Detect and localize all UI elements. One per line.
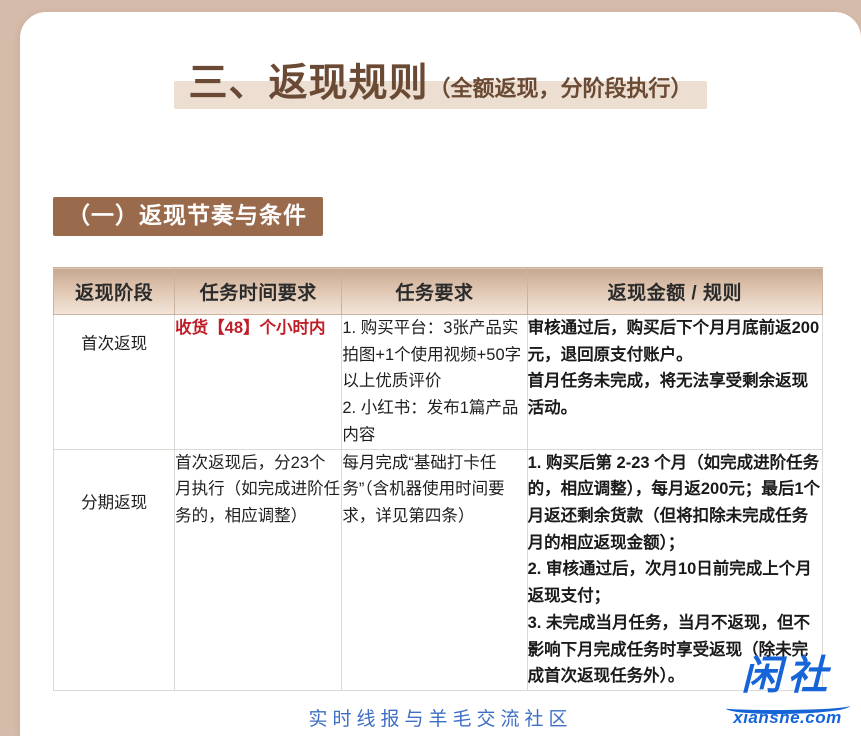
- site-logo: 闲社 xianshe.com: [710, 656, 861, 728]
- content-card: 三、返现规则（全额返现，分阶段执行） （一）返现节奏与条件 返现阶段 任务时间要…: [20, 12, 861, 736]
- rebate-rules-table: 返现阶段 任务时间要求 任务要求 返现金额 / 规则 首次返现 收货【48】个小…: [53, 267, 823, 691]
- column-header-time: 任务时间要求: [175, 268, 342, 315]
- logo-url: xianshe.com: [710, 708, 861, 728]
- cell-stage: 首次返现: [54, 315, 175, 450]
- title-main: 三、返现规则: [188, 62, 428, 105]
- logo-mark: 闲社: [710, 656, 861, 696]
- cell-stage: 分期返现: [54, 449, 175, 690]
- table-header-row: 返现阶段 任务时间要求 任务要求 返现金额 / 规则: [54, 268, 823, 315]
- page-root: 三、返现规则（全额返现，分阶段执行） （一）返现节奏与条件 返现阶段 任务时间要…: [0, 0, 861, 736]
- cell-amount: 审核通过后，购买后下个月月底前返200元，退回原支付账户。首月任务未完成，将无法…: [527, 315, 822, 450]
- cell-time: 首次返现后，分23个月执行（如完成进阶任务的，相应调整）: [175, 449, 342, 690]
- column-header-amount: 返现金额 / 规则: [527, 268, 822, 315]
- section-badge: （一）返现节奏与条件: [53, 197, 323, 236]
- column-header-task: 任务要求: [342, 268, 527, 315]
- title-text: 三、返现规则（全额返现，分阶段执行）: [188, 83, 692, 100]
- table-row: 分期返现 首次返现后，分23个月执行（如完成进阶任务的，相应调整） 每月完成“基…: [54, 449, 823, 690]
- cell-task: 每月完成“基础打卡任务”（含机器使用时间要求，详见第四条）: [342, 449, 527, 690]
- cell-time: 收货【48】个小时内: [175, 315, 342, 450]
- cell-task: 1. 购买平台：3张产品实拍图+1个使用视频+50字以上优质评价2. 小红书：发…: [342, 315, 527, 450]
- title-sub: （全额返现，分阶段执行）: [429, 76, 693, 101]
- page-title: 三、返现规则（全额返现，分阶段执行）: [20, 64, 861, 109]
- title-inner: 三、返现规则（全额返现，分阶段执行）: [174, 64, 706, 109]
- table-row: 首次返现 收货【48】个小时内 1. 购买平台：3张产品实拍图+1个使用视频+5…: [54, 315, 823, 450]
- column-header-stage: 返现阶段: [54, 268, 175, 315]
